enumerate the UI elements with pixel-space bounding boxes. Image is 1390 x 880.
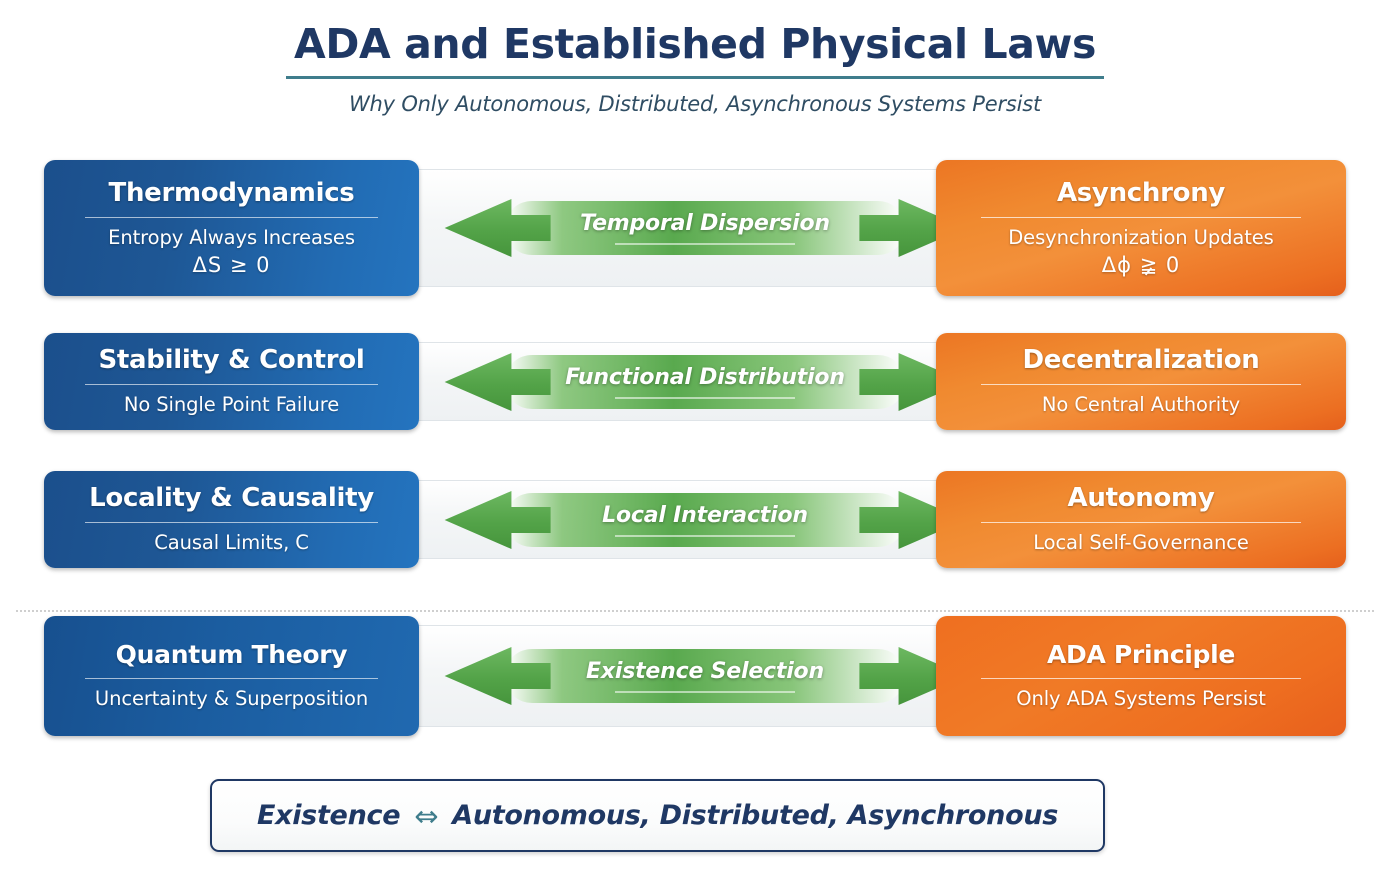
- page-subtitle: Why Only Autonomous, Distributed, Asynch…: [0, 92, 1390, 116]
- bidirectional-arrow[interactable]: Functional Distribution: [440, 345, 970, 419]
- panel-subtitle: Local Self-Governance: [1019, 531, 1263, 555]
- physical-law-panel[interactable]: Thermodynamics Entropy Always Increases …: [44, 160, 419, 296]
- bidirectional-arrow[interactable]: Existence Selection: [440, 639, 970, 713]
- panel-subtitle: Desynchronization Updates: [994, 226, 1287, 250]
- panel-title: Locality & Causality: [71, 484, 392, 513]
- page-title: ADA and Established Physical Laws: [286, 22, 1104, 79]
- panel-divider: [981, 384, 1301, 385]
- panel-subtitle: Causal Limits, C: [140, 531, 323, 555]
- panel-divider: [981, 522, 1301, 523]
- comparison-row: Stability & Control No Single Point Fail…: [0, 333, 1390, 430]
- row-gap: [0, 568, 1390, 616]
- physical-law-panel[interactable]: Stability & Control No Single Point Fail…: [44, 333, 419, 430]
- bidirectional-arrow[interactable]: Temporal Dispersion: [440, 191, 970, 265]
- physical-law-panel[interactable]: Locality & Causality Causal Limits, C: [44, 471, 419, 568]
- row-list: Thermodynamics Entropy Always Increases …: [0, 160, 1390, 736]
- panel-title: Quantum Theory: [98, 641, 366, 669]
- ada-property-panel[interactable]: Autonomy Local Self-Governance: [936, 471, 1346, 568]
- panel-subtitle: Only ADA Systems Persist: [1002, 687, 1280, 711]
- panel-divider: [85, 384, 378, 385]
- bidirectional-arrow[interactable]: Local Interaction: [440, 483, 970, 557]
- ada-property-panel[interactable]: Asynchrony Desynchronization Updates Δϕ …: [936, 160, 1346, 296]
- panel-title: Autonomy: [1050, 484, 1233, 513]
- double-arrow-icon: [440, 191, 970, 265]
- panel-divider: [85, 522, 378, 523]
- panel-title: Asynchrony: [1039, 179, 1243, 208]
- panel-title: Decentralization: [1005, 346, 1278, 375]
- ada-property-panel[interactable]: ADA Principle Only ADA Systems Persist: [936, 616, 1346, 736]
- comparison-row: Thermodynamics Entropy Always Increases …: [0, 160, 1390, 296]
- ada-property-panel[interactable]: Decentralization No Central Authority: [936, 333, 1346, 430]
- equivalence-icon: ⇔: [414, 799, 438, 833]
- row-gap: [0, 430, 1390, 471]
- double-arrow-icon: [440, 483, 970, 557]
- double-arrow-icon: [440, 639, 970, 713]
- summary-left-term: Existence: [257, 800, 400, 831]
- panel-formula: Δϕ ≩ 0: [1102, 253, 1181, 277]
- comparison-row: Locality & Causality Causal Limits, C Lo…: [0, 471, 1390, 568]
- panel-subtitle: No Central Authority: [1028, 393, 1254, 417]
- panel-formula: ΔS ≥ 0: [192, 253, 270, 277]
- summary-banner: Existence ⇔ Autonomous, Distributed, Asy…: [210, 779, 1105, 852]
- panel-divider: [85, 217, 378, 218]
- panel-subtitle: Uncertainty & Superposition: [81, 687, 382, 711]
- summary-right-term: Autonomous, Distributed, Asynchronous: [452, 800, 1058, 831]
- panel-subtitle: No Single Point Failure: [110, 393, 353, 417]
- double-arrow-icon: [440, 345, 970, 419]
- comparison-row: Quantum Theory Uncertainty & Superpositi…: [0, 616, 1390, 736]
- panel-title: Stability & Control: [81, 346, 383, 375]
- panel-divider: [85, 678, 378, 679]
- panel-title: Thermodynamics: [91, 179, 373, 208]
- summary-text: Existence ⇔ Autonomous, Distributed, Asy…: [257, 799, 1058, 833]
- physical-law-panel[interactable]: Quantum Theory Uncertainty & Superpositi…: [44, 616, 419, 736]
- panel-subtitle: Entropy Always Increases: [94, 226, 369, 250]
- panel-divider: [981, 217, 1301, 218]
- panel-title: ADA Principle: [1029, 641, 1253, 669]
- row-gap: [0, 296, 1390, 333]
- diagram-header: ADA and Established Physical Laws Why On…: [0, 0, 1390, 116]
- section-divider: [16, 610, 1374, 612]
- panel-divider: [981, 678, 1301, 679]
